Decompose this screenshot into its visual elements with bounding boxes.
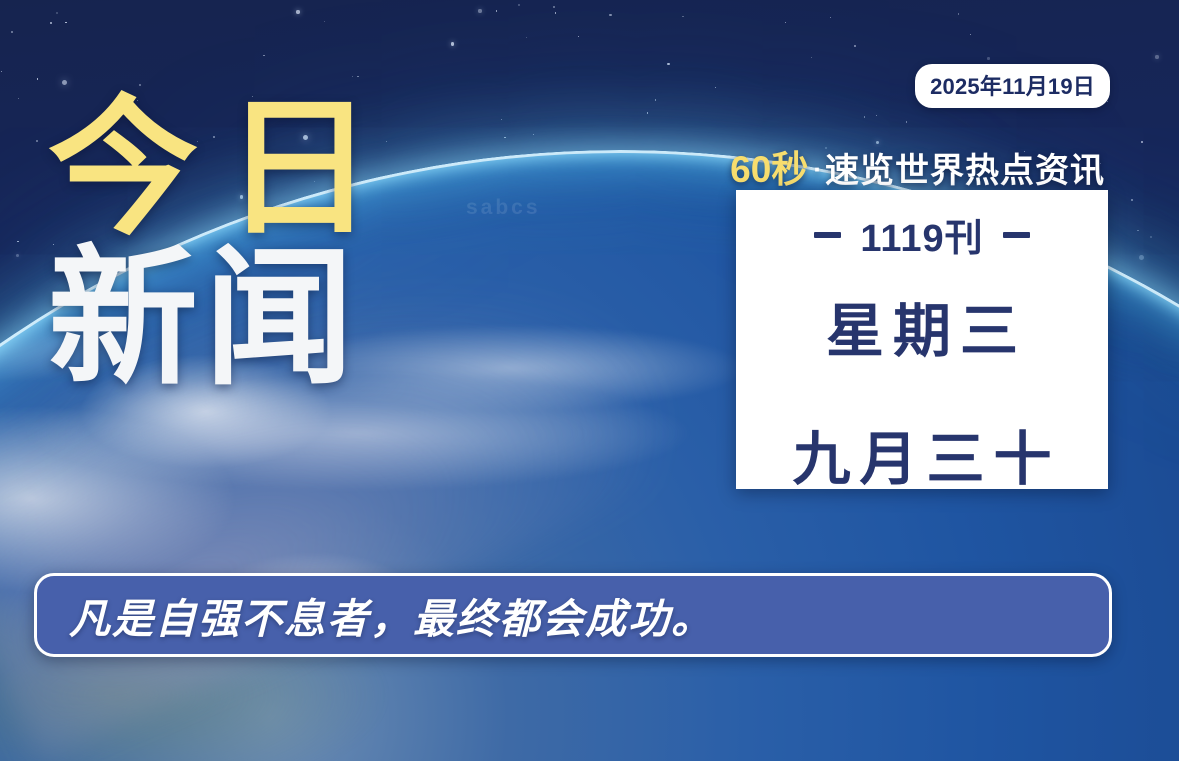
tagline-seconds: 60秒: [730, 149, 808, 190]
page-title-line-1: 今日: [48, 96, 400, 240]
info-card: 1119刊 星期三 九月三十: [736, 190, 1108, 489]
weekday-label: 星期三: [817, 284, 1027, 368]
tagline-separator: ·: [813, 154, 822, 184]
quote-bar: 凡是自强不息者，最终都会成功。: [34, 573, 1112, 657]
issue-number: 1119刊: [860, 207, 983, 262]
tagline-text: 速览世界热点资讯: [825, 152, 1105, 190]
lunar-date-label: 九月三十: [783, 412, 1060, 496]
page-title: 今日 新闻: [48, 96, 400, 390]
quote-text: 凡是自强不息者，最终都会成功。: [37, 585, 714, 645]
poster-canvas: sabcs 今日 新闻 2025年11月19日 60秒·速览世界热点资讯 111…: [0, 0, 1179, 761]
page-title-line-2: 新闻: [48, 246, 400, 390]
tagline: 60秒·速览世界热点资讯: [730, 139, 1105, 193]
issue-number-row: 1119刊: [814, 207, 1029, 262]
date-badge: 2025年11月19日: [915, 64, 1110, 108]
dash-right-icon: [1003, 232, 1030, 238]
dash-left-icon: [814, 232, 841, 238]
